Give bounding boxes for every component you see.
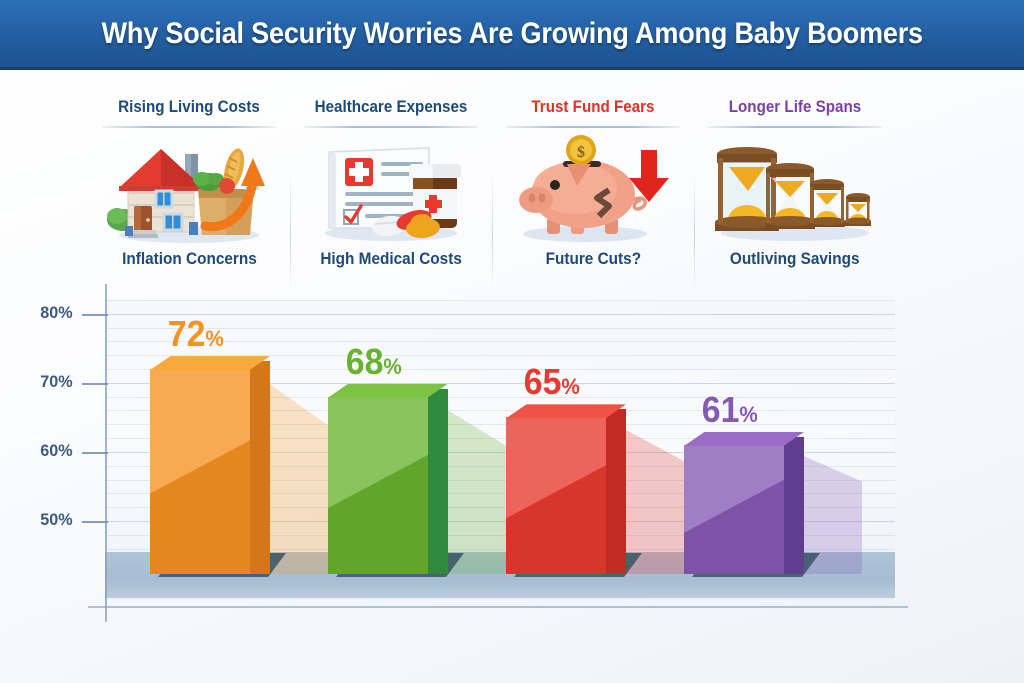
bar-side-face — [250, 361, 270, 574]
category-healthcare-expenses: Healthcare Expenses — [290, 84, 492, 284]
category-subtitle: Inflation Concerns — [122, 250, 257, 269]
bar-value-number: 61 — [702, 389, 740, 430]
category-title: Rising Living Costs — [118, 98, 260, 117]
cracked-piggy-bank-down-arrow-icon: $ — [505, 134, 681, 246]
bar-top-face — [150, 356, 270, 370]
y-axis-tick — [82, 452, 108, 454]
y-axis-label: 60% — [19, 441, 72, 461]
category-longer-life-spans: Longer Life Spans — [694, 84, 896, 284]
y-axis-tick — [82, 383, 108, 385]
category-title: Healthcare Expenses — [315, 98, 468, 117]
category-subtitle: High Medical Costs — [320, 250, 462, 269]
gridline — [105, 300, 895, 301]
percent-sign: % — [561, 374, 579, 399]
bar-value-label: 72% — [168, 313, 224, 355]
percent-sign: % — [739, 402, 757, 427]
x-axis-line — [88, 606, 908, 608]
percent-sign: % — [383, 354, 401, 379]
bar-value-label: 65% — [524, 361, 580, 403]
bar-side-face — [428, 389, 448, 574]
bar-value-number: 65 — [524, 361, 562, 402]
bar-highlight — [506, 417, 606, 574]
infographic-page: Why Social Security Worries Are Growing … — [0, 0, 1024, 683]
bar-top-face — [328, 384, 448, 398]
medical-form-pill-bottle-icon — [303, 134, 479, 246]
category-rising-living-costs: Rising Living Costs — [88, 84, 290, 284]
category-subtitle: Outliving Savings — [730, 250, 860, 269]
bar-value-number: 72 — [168, 313, 206, 354]
bar-2[interactable] — [328, 397, 448, 574]
bar-side-face — [784, 437, 804, 574]
category-trust-fund-fears: Trust Fund Fears — [492, 84, 694, 284]
bar-3[interactable] — [506, 417, 626, 574]
house-grocery-bag-rising-arrow-icon — [101, 134, 277, 246]
bar-highlight — [150, 369, 250, 574]
y-axis-label: 70% — [19, 372, 72, 392]
category-underline — [304, 126, 478, 128]
category-subtitle: Future Cuts? — [545, 250, 640, 269]
title-banner: Why Social Security Worries Are Growing … — [0, 0, 1024, 70]
bar-1[interactable] — [150, 369, 270, 574]
bar-top-face — [506, 404, 626, 418]
svg-text:$: $ — [577, 144, 585, 161]
shrinking-hourglasses-icon — [707, 134, 883, 246]
category-underline — [708, 126, 882, 128]
bar-top-face — [684, 432, 804, 446]
bar-highlight — [328, 397, 428, 574]
category-underline — [506, 126, 680, 128]
y-axis-tick — [82, 521, 108, 523]
bar-highlight — [684, 445, 784, 574]
bar-value-number: 68 — [346, 341, 384, 382]
bar-chart: 50%60%70%80% 72%68%65%61% — [0, 284, 1024, 644]
bar-value-label: 61% — [702, 389, 758, 431]
bar-value-label: 68% — [346, 341, 402, 383]
page-title: Why Social Security Worries Are Growing … — [101, 17, 922, 51]
percent-sign: % — [205, 326, 223, 351]
y-axis-label: 50% — [19, 510, 72, 530]
category-underline — [102, 126, 276, 128]
y-axis-tick — [82, 314, 108, 316]
category-title: Longer Life Spans — [729, 98, 861, 117]
y-axis-label: 80% — [19, 303, 72, 323]
category-title: Trust Fund Fears — [531, 98, 654, 117]
bar-4[interactable] — [684, 445, 804, 574]
category-strip: Rising Living Costs — [88, 84, 896, 284]
bar-side-face — [606, 409, 626, 574]
